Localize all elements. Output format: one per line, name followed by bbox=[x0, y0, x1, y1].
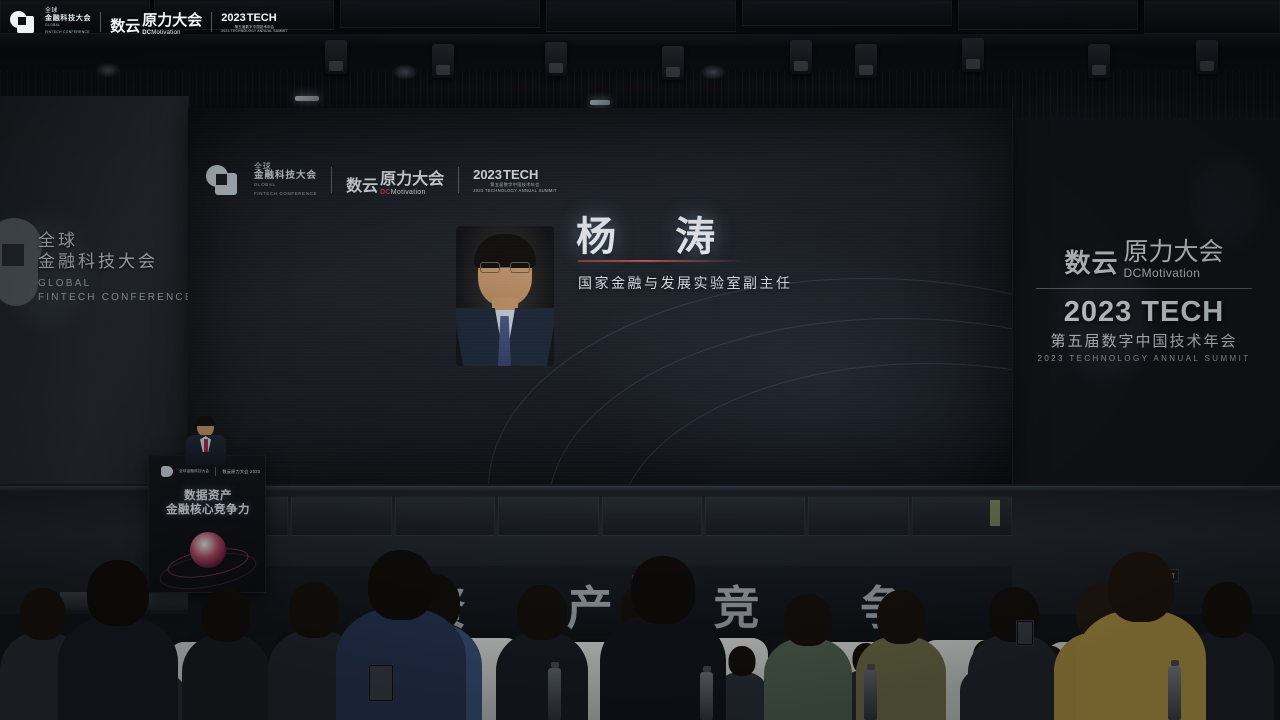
watermark-dc-en: DCMotivation bbox=[142, 30, 202, 36]
fintech-logo-watermark-icon bbox=[10, 10, 36, 34]
watermark-summit-en: 2023 TECHNOLOGY ANNUAL SUMMIT bbox=[221, 29, 288, 33]
watermark-fintech-cn1: 全球 bbox=[45, 8, 91, 15]
watermark-divider-2 bbox=[211, 12, 212, 32]
scene-vignette bbox=[0, 0, 1280, 720]
watermark-fintech-en1: GLOBAL bbox=[45, 22, 91, 29]
watermark-year: 2023 bbox=[221, 12, 245, 24]
watermark-dc-cn2: 原力大会 bbox=[142, 9, 202, 30]
watermark-fintech-text: 全球 金融科技大会 GLOBAL FINTECH CONFERENCE bbox=[45, 8, 91, 36]
watermark-dc-cn: 数云 bbox=[110, 15, 140, 36]
watermark-year-tech: TECH bbox=[247, 12, 277, 24]
broadcast-watermark: 全球 金融科技大会 GLOBAL FINTECH CONFERENCE 数云 原… bbox=[10, 8, 288, 36]
watermark-fintech-en2: FINTECH CONFERENCE bbox=[45, 29, 91, 36]
watermark-divider bbox=[100, 12, 101, 32]
watermark-fintech-cn2: 金融科技大会 bbox=[45, 15, 91, 22]
conference-scene: 全球 金融科技大会 GLOBAL FINTECH CONFERENCE 数云 原… bbox=[0, 0, 1280, 720]
